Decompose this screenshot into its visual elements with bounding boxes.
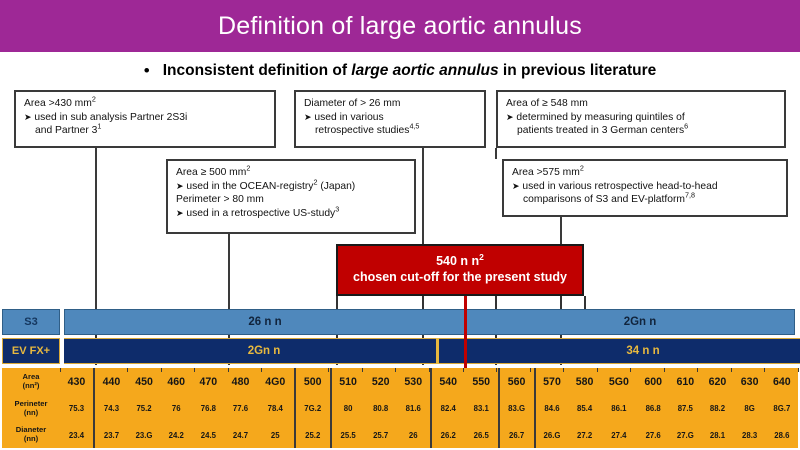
cell-area-4: 470 xyxy=(192,368,224,395)
axis-tick-7 xyxy=(295,368,296,372)
cell-area-19: 620 xyxy=(701,368,733,395)
callout-500-line-3: ➤ used in a retrospective US-study3 xyxy=(176,207,406,221)
cell-area-13: 560 xyxy=(499,368,535,395)
cell-diameter-14: 26.G xyxy=(535,422,569,448)
callout-500-header: Area ≥ 500 mm2 xyxy=(176,166,406,180)
callout-500-line-2: Perimeter > 80 mm xyxy=(176,193,406,207)
cell-area-15: 580 xyxy=(569,368,601,395)
bullet-pre: Inconsistent definition of xyxy=(163,62,352,79)
cell-perimeter-13: 83.G xyxy=(499,395,535,422)
axis-tick-9 xyxy=(362,368,363,372)
cell-diameter-0: 23.4 xyxy=(60,422,94,448)
cell-diameter-1: 23.7 xyxy=(94,422,128,448)
cell-perimeter-8: 80 xyxy=(331,395,365,422)
axis-tick-10 xyxy=(395,368,396,372)
arrow-icon: ➤ xyxy=(304,112,312,122)
cell-diameter-4: 24.5 xyxy=(192,422,224,448)
callout-430-line-2: and Partner 31 xyxy=(24,124,266,138)
axis-tick-11 xyxy=(429,368,430,372)
cell-perimeter-14: 84.6 xyxy=(535,395,569,422)
axis-tick-19 xyxy=(697,368,698,372)
cell-diameter-6: 25 xyxy=(257,422,295,448)
cell-area-11: 540 xyxy=(431,368,465,395)
cell-area-9: 520 xyxy=(365,368,397,395)
cell-area-7: 500 xyxy=(295,368,331,395)
cell-diameter-19: 28.1 xyxy=(701,422,733,448)
cell-area-17: 600 xyxy=(637,368,669,395)
cell-area-1: 440 xyxy=(94,368,128,395)
bullet-line: • Inconsistent definition of large aorti… xyxy=(0,58,800,84)
arrow-icon: ➤ xyxy=(176,208,184,218)
axis-tick-17 xyxy=(630,368,631,372)
bullet-marker-icon: • xyxy=(144,62,150,79)
callout-26-line-1: ➤ used in various xyxy=(304,111,476,125)
ev-segment-left-value: 2Gn n xyxy=(94,338,434,364)
axis-tick-18 xyxy=(664,368,665,372)
cell-area-20: 630 xyxy=(734,368,766,395)
cell-area-16: 5G0 xyxy=(601,368,637,395)
axis-tick-8 xyxy=(328,368,329,372)
cell-perimeter-18: 87.5 xyxy=(669,395,701,422)
row-label-diameter-l2: (nn) xyxy=(24,434,38,443)
arrow-icon: ➤ xyxy=(512,181,520,191)
cell-perimeter-0: 75.3 xyxy=(60,395,94,422)
cutoff-callout: 540 n n2 chosen cut-off for the present … xyxy=(336,244,584,296)
axis-tick-2 xyxy=(127,368,128,372)
cell-perimeter-2: 75.2 xyxy=(128,395,160,422)
cutoff-value-sup: 2 xyxy=(479,252,484,262)
device-bar-s3: 26 n n 2Gn n xyxy=(64,309,795,335)
callout-548-header: Area of ≥ 548 mm xyxy=(506,97,776,111)
callout-548-line-2: patients treated in 3 German centers6 xyxy=(506,124,776,138)
cell-diameter-13: 26.7 xyxy=(499,422,535,448)
cell-diameter-3: 24.2 xyxy=(160,422,192,448)
cutoff-value-text: 540 n n xyxy=(436,254,479,268)
cell-perimeter-1: 74.3 xyxy=(94,395,128,422)
cell-diameter-21: 28.6 xyxy=(766,422,798,448)
cell-area-12: 550 xyxy=(465,368,499,395)
row-label-area: Area (nn²) xyxy=(2,368,60,395)
cell-area-5: 480 xyxy=(224,368,256,395)
cell-diameter-5: 24.7 xyxy=(224,422,256,448)
row-label-perimeter-l2: (nn) xyxy=(24,408,38,417)
cell-area-18: 610 xyxy=(669,368,701,395)
row-label-area-l2: (nn²) xyxy=(23,381,40,390)
cell-perimeter-7: 7G.2 xyxy=(295,395,331,422)
cell-area-2: 450 xyxy=(128,368,160,395)
device-label-ev-fx: EV FX+ xyxy=(2,338,60,364)
cell-perimeter-12: 83.1 xyxy=(465,395,499,422)
callout-500-line-1: ➤ used in the OCEAN-registry2 (Japan) xyxy=(176,180,406,194)
cell-diameter-17: 27.6 xyxy=(637,422,669,448)
device-label-s3: S3 xyxy=(2,309,60,335)
axis-tick-16 xyxy=(597,368,598,372)
row-label-perimeter-l1: Perineter xyxy=(15,399,48,408)
cell-perimeter-9: 80.8 xyxy=(365,395,397,422)
connector-line-500 xyxy=(228,234,230,309)
cell-perimeter-4: 76.8 xyxy=(192,395,224,422)
callout-area-575: Area >575 mm2 ➤ used in various retrospe… xyxy=(502,159,788,217)
cell-diameter-20: 28.3 xyxy=(734,422,766,448)
callout-area-500: Area ≥ 500 mm2 ➤ used in the OCEAN-regis… xyxy=(166,159,416,234)
axis-tick-5 xyxy=(228,368,229,372)
cell-diameter-12: 26.5 xyxy=(465,422,499,448)
connector-line-548 xyxy=(495,148,497,159)
cell-area-8: 510 xyxy=(331,368,365,395)
axis-tick-13 xyxy=(496,368,497,372)
axis-tick-12 xyxy=(463,368,464,372)
cell-diameter-10: 26 xyxy=(397,422,431,448)
callout-575-header: Area >575 mm2 xyxy=(512,166,778,180)
cell-perimeter-5: 77.6 xyxy=(224,395,256,422)
group-separator-7 xyxy=(584,296,586,310)
bullet-text: Inconsistent definition of large aortic … xyxy=(163,62,657,80)
row-label-perimeter: Perineter (nn) xyxy=(2,395,60,422)
callout-548-line-1: ➤ determined by measuring quintiles of xyxy=(506,111,776,125)
table-row-area: Area (nn²) 4304404504604704804G050051052… xyxy=(2,368,798,395)
cell-diameter-15: 27.2 xyxy=(569,422,601,448)
callout-26-line-2: retrospective studies4,5 xyxy=(304,124,476,138)
row-label-diameter: Dianeter (nn) xyxy=(2,422,60,448)
cell-perimeter-3: 76 xyxy=(160,395,192,422)
axis-tick-14 xyxy=(530,368,531,372)
s3-segment-left-value: 26 n n xyxy=(95,316,435,328)
arrow-icon: ➤ xyxy=(176,181,184,191)
axis-tick-4 xyxy=(194,368,195,372)
cell-perimeter-19: 88.2 xyxy=(701,395,733,422)
measurements-table-grid: Area (nn²) 4304404504604704804G050051052… xyxy=(2,368,798,448)
axis-tick-15 xyxy=(563,368,564,372)
callout-575-line-1: ➤ used in various retrospective head-to-… xyxy=(512,180,778,194)
axis-tick-6 xyxy=(261,368,262,372)
cell-diameter-16: 27.4 xyxy=(601,422,637,448)
cell-diameter-7: 25.2 xyxy=(295,422,331,448)
cell-perimeter-6: 78.4 xyxy=(257,395,295,422)
connector-line-430 xyxy=(95,148,97,309)
ev-segment-right-value: 34 n n xyxy=(498,338,788,364)
axis-tick-22 xyxy=(798,368,799,372)
cutoff-description: chosen cut-off for the present study xyxy=(353,270,567,286)
callout-430-header: Area >430 mm2 xyxy=(24,97,266,111)
table-row-perimeter: Perineter (nn) 75.374.375.27676.877.678.… xyxy=(2,395,798,422)
cell-perimeter-17: 86.8 xyxy=(637,395,669,422)
callout-diameter-26: Diameter of > 26 mm ➤ used in various re… xyxy=(294,90,486,148)
callout-area-548: Area of ≥ 548 mm ➤ determined by measuri… xyxy=(496,90,786,148)
arrow-icon: ➤ xyxy=(506,112,514,122)
cell-diameter-2: 23.G xyxy=(128,422,160,448)
s3-segment-right-value: 2Gn n xyxy=(495,316,785,328)
page-title: Definition of large aortic annulus xyxy=(218,12,582,41)
arrow-icon: ➤ xyxy=(24,112,32,122)
cell-area-3: 460 xyxy=(160,368,192,395)
cell-perimeter-10: 81.6 xyxy=(397,395,431,422)
ev-fx-notch-marker xyxy=(436,338,439,364)
slide-title-bar: Definition of large aortic annulus xyxy=(0,0,800,52)
cell-area-0: 430 xyxy=(60,368,94,395)
cell-perimeter-20: 8G xyxy=(734,395,766,422)
slide-root: Definition of large aortic annulus • Inc… xyxy=(0,0,800,450)
row-label-area-l1: Area xyxy=(23,372,40,381)
measurements-table: Area (nn²) 4304404504604704804G050051052… xyxy=(2,368,798,448)
axis-tick-21 xyxy=(764,368,765,372)
cell-perimeter-21: 8G.7 xyxy=(766,395,798,422)
bullet-post: in previous literature xyxy=(499,62,657,79)
cell-diameter-9: 25.7 xyxy=(365,422,397,448)
cell-diameter-11: 26.2 xyxy=(431,422,465,448)
row-label-diameter-l1: Dianeter xyxy=(16,425,46,434)
cutoff-value: 540 n n2 xyxy=(436,254,484,270)
axis-tick-3 xyxy=(161,368,162,372)
callout-area-430: Area >430 mm2 ➤ used in sub analysis Par… xyxy=(14,90,276,148)
cell-area-10: 530 xyxy=(397,368,431,395)
axis-tick-0 xyxy=(60,368,61,372)
axis-tick-1 xyxy=(94,368,95,372)
cell-perimeter-11: 82.4 xyxy=(431,395,465,422)
cell-perimeter-15: 85.4 xyxy=(569,395,601,422)
cell-area-21: 640 xyxy=(766,368,798,395)
callout-430-line-1: ➤ used in sub analysis Partner 2S3i xyxy=(24,111,266,125)
cell-area-14: 570 xyxy=(535,368,569,395)
callout-575-line-2: comparisons of S3 and EV-platform7,8 xyxy=(512,193,778,207)
cell-perimeter-16: 86.1 xyxy=(601,395,637,422)
cell-diameter-18: 27.G xyxy=(669,422,701,448)
bullet-italic: large aortic annulus xyxy=(351,62,498,79)
callout-26-header: Diameter of > 26 mm xyxy=(304,97,476,111)
cell-area-6: 4G0 xyxy=(257,368,295,395)
axis-tick-20 xyxy=(731,368,732,372)
table-row-diameter: Dianeter (nn) 23.423.723.G24.224.524.725… xyxy=(2,422,798,448)
cell-diameter-8: 25.5 xyxy=(331,422,365,448)
